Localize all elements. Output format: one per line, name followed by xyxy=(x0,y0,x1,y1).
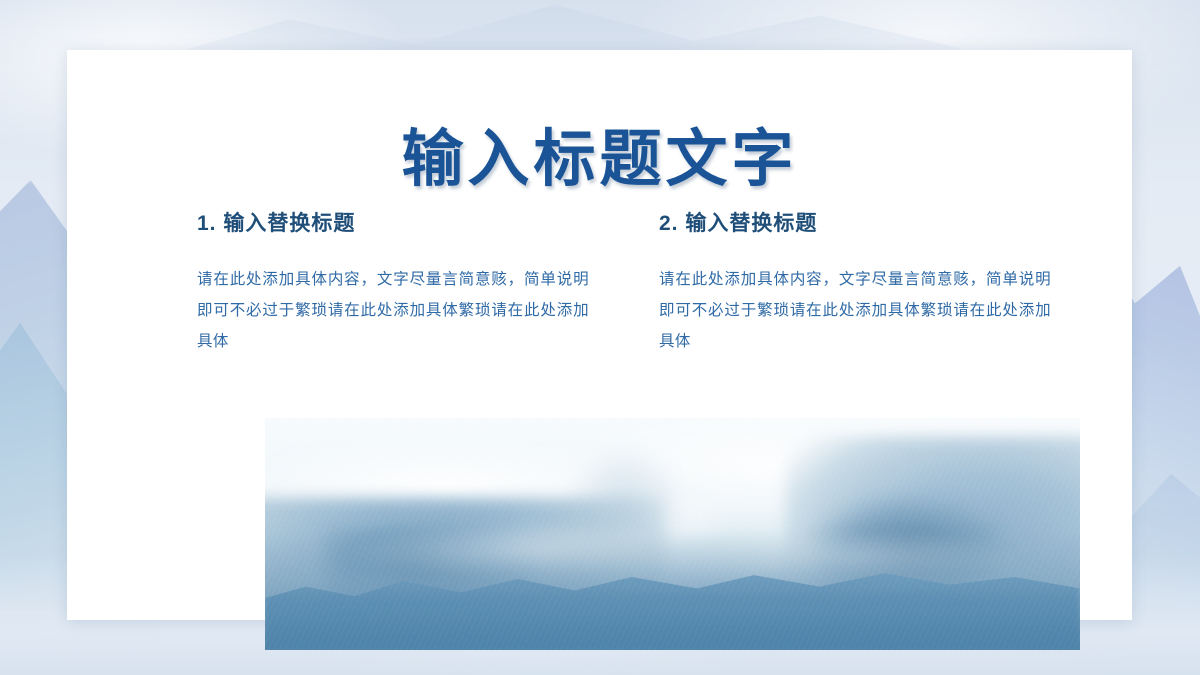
column-2-heading: 2. 输入替换标题 xyxy=(659,207,1051,237)
column-1: 1. 输入替换标题 请在此处添加具体内容，文字尽量言简意赅，简单说明即可不必过于… xyxy=(189,207,589,357)
column-2: 2. 输入替换标题 请在此处添加具体内容，文字尽量言简意赅，简单说明即可不必过于… xyxy=(651,207,1051,357)
watercolor-landscape-image xyxy=(265,418,1080,650)
image-grain xyxy=(265,418,1080,650)
content-card: 输入标题文字 1. 输入替换标题 请在此处添加具体内容，文字尽量言简意赅，简单说… xyxy=(67,50,1132,620)
column-1-heading: 1. 输入替换标题 xyxy=(197,207,589,237)
slide: 输入标题文字 1. 输入替换标题 请在此处添加具体内容，文字尽量言简意赅，简单说… xyxy=(0,0,1200,675)
column-1-body: 请在此处添加具体内容，文字尽量言简意赅，简单说明即可不必过于繁琐请在此处添加具体… xyxy=(197,264,589,357)
text-columns: 1. 输入替换标题 请在此处添加具体内容，文字尽量言简意赅，简单说明即可不必过于… xyxy=(189,207,1129,357)
page-title: 输入标题文字 xyxy=(67,128,1132,193)
column-2-body: 请在此处添加具体内容，文字尽量言简意赅，简单说明即可不必过于繁琐请在此处添加具体… xyxy=(659,264,1051,357)
